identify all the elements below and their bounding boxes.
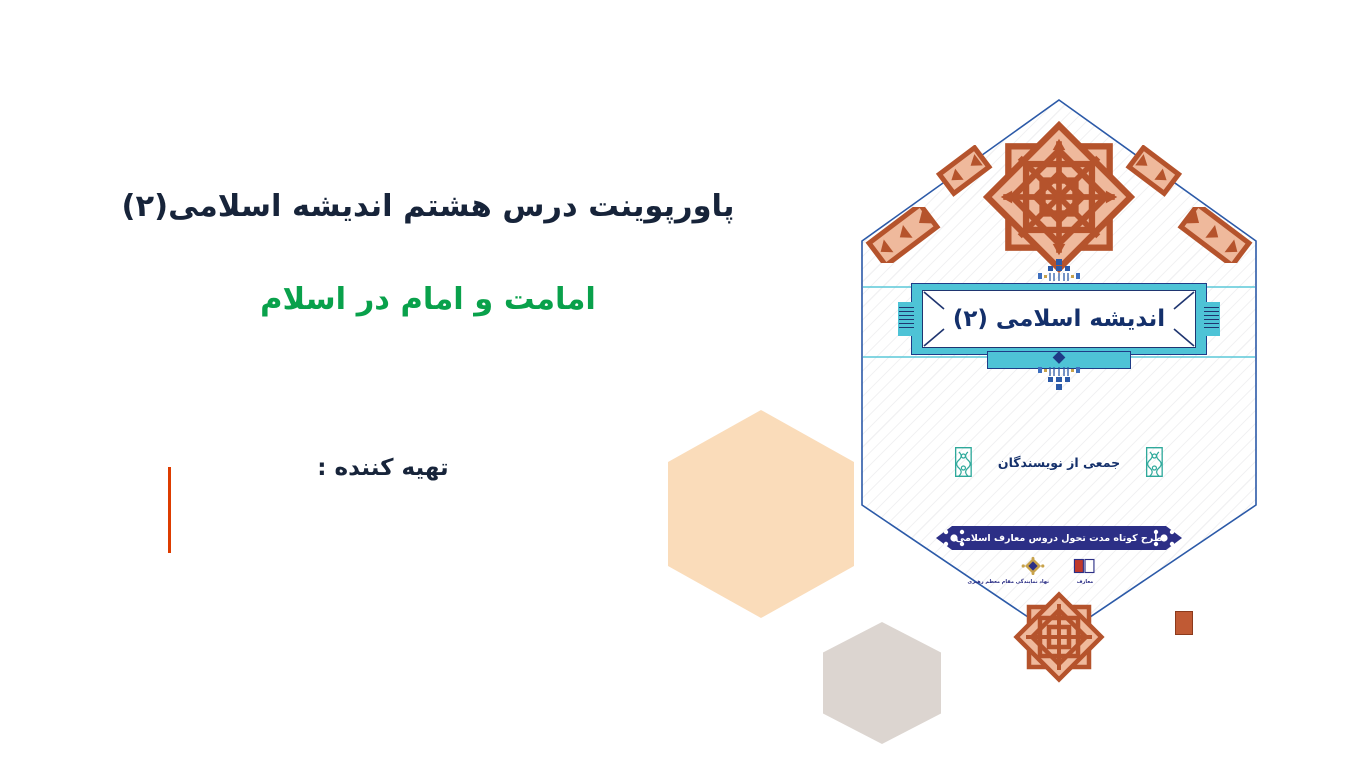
title-group: پاورپوینت درس هشتم اندیشه اسلامی(۲) امام… — [90, 186, 766, 320]
credit-group: تهیه کننده : — [90, 455, 766, 481]
cover-authors-text: جمعی از نویسندگان — [998, 455, 1120, 470]
corner-ornament-icon — [1171, 207, 1259, 263]
open-book-icon — [1072, 557, 1098, 575]
author-ornament-icon — [1146, 447, 1163, 477]
logo-caption: معارف — [1069, 580, 1101, 586]
bottom-star-ornament-icon — [1011, 589, 1107, 685]
logo-item: معارف — [1069, 557, 1101, 586]
cover-authors-row: جمعی از نویسندگان — [955, 447, 1163, 477]
tile-crest-ornament-icon — [1028, 259, 1090, 283]
credit-label: تهیه کننده : — [90, 455, 766, 481]
cover-logos-row: معارف نهاد نمایندگی مقام معظم رهبری — [1017, 557, 1101, 586]
author-ornament-icon — [955, 447, 972, 477]
corner-ornament-icon — [917, 145, 1005, 201]
logo-item: نهاد نمایندگی مقام معظم رهبری — [1017, 557, 1049, 586]
text-cursor-caret[interactable] — [168, 467, 171, 553]
page-title: پاورپوینت درس هشتم اندیشه اسلامی(۲) — [90, 186, 766, 227]
book-cover-image: اندیشه اسلامی (۲) — [861, 99, 1257, 639]
slide-canvas: پاورپوینت درس هشتم اندیشه اسلامی(۲) امام… — [0, 0, 1366, 768]
cover-title-plate: اندیشه اسلامی (۲) — [911, 283, 1207, 355]
gray-hexagon — [823, 622, 941, 744]
cover-spine-tab — [1175, 611, 1193, 635]
cover-banner-text: طرح کوتاه مدت تحول دروس معارف اسلامی — [940, 526, 1178, 550]
tile-crest-ornament-icon — [1028, 365, 1090, 395]
cover-banner: طرح کوتاه مدت تحول دروس معارف اسلامی — [940, 526, 1178, 550]
peach-hexagon — [668, 410, 854, 618]
cover-title-text: اندیشه اسلامی (۲) — [911, 283, 1207, 355]
corner-ornament-icon — [859, 207, 947, 263]
logo-caption: نهاد نمایندگی مقام معظم رهبری — [1017, 580, 1049, 586]
corner-ornament-icon — [1113, 145, 1201, 201]
maaref-emblem-icon — [1020, 557, 1046, 575]
page-subtitle: امامت و امام در اسلام — [90, 279, 766, 320]
